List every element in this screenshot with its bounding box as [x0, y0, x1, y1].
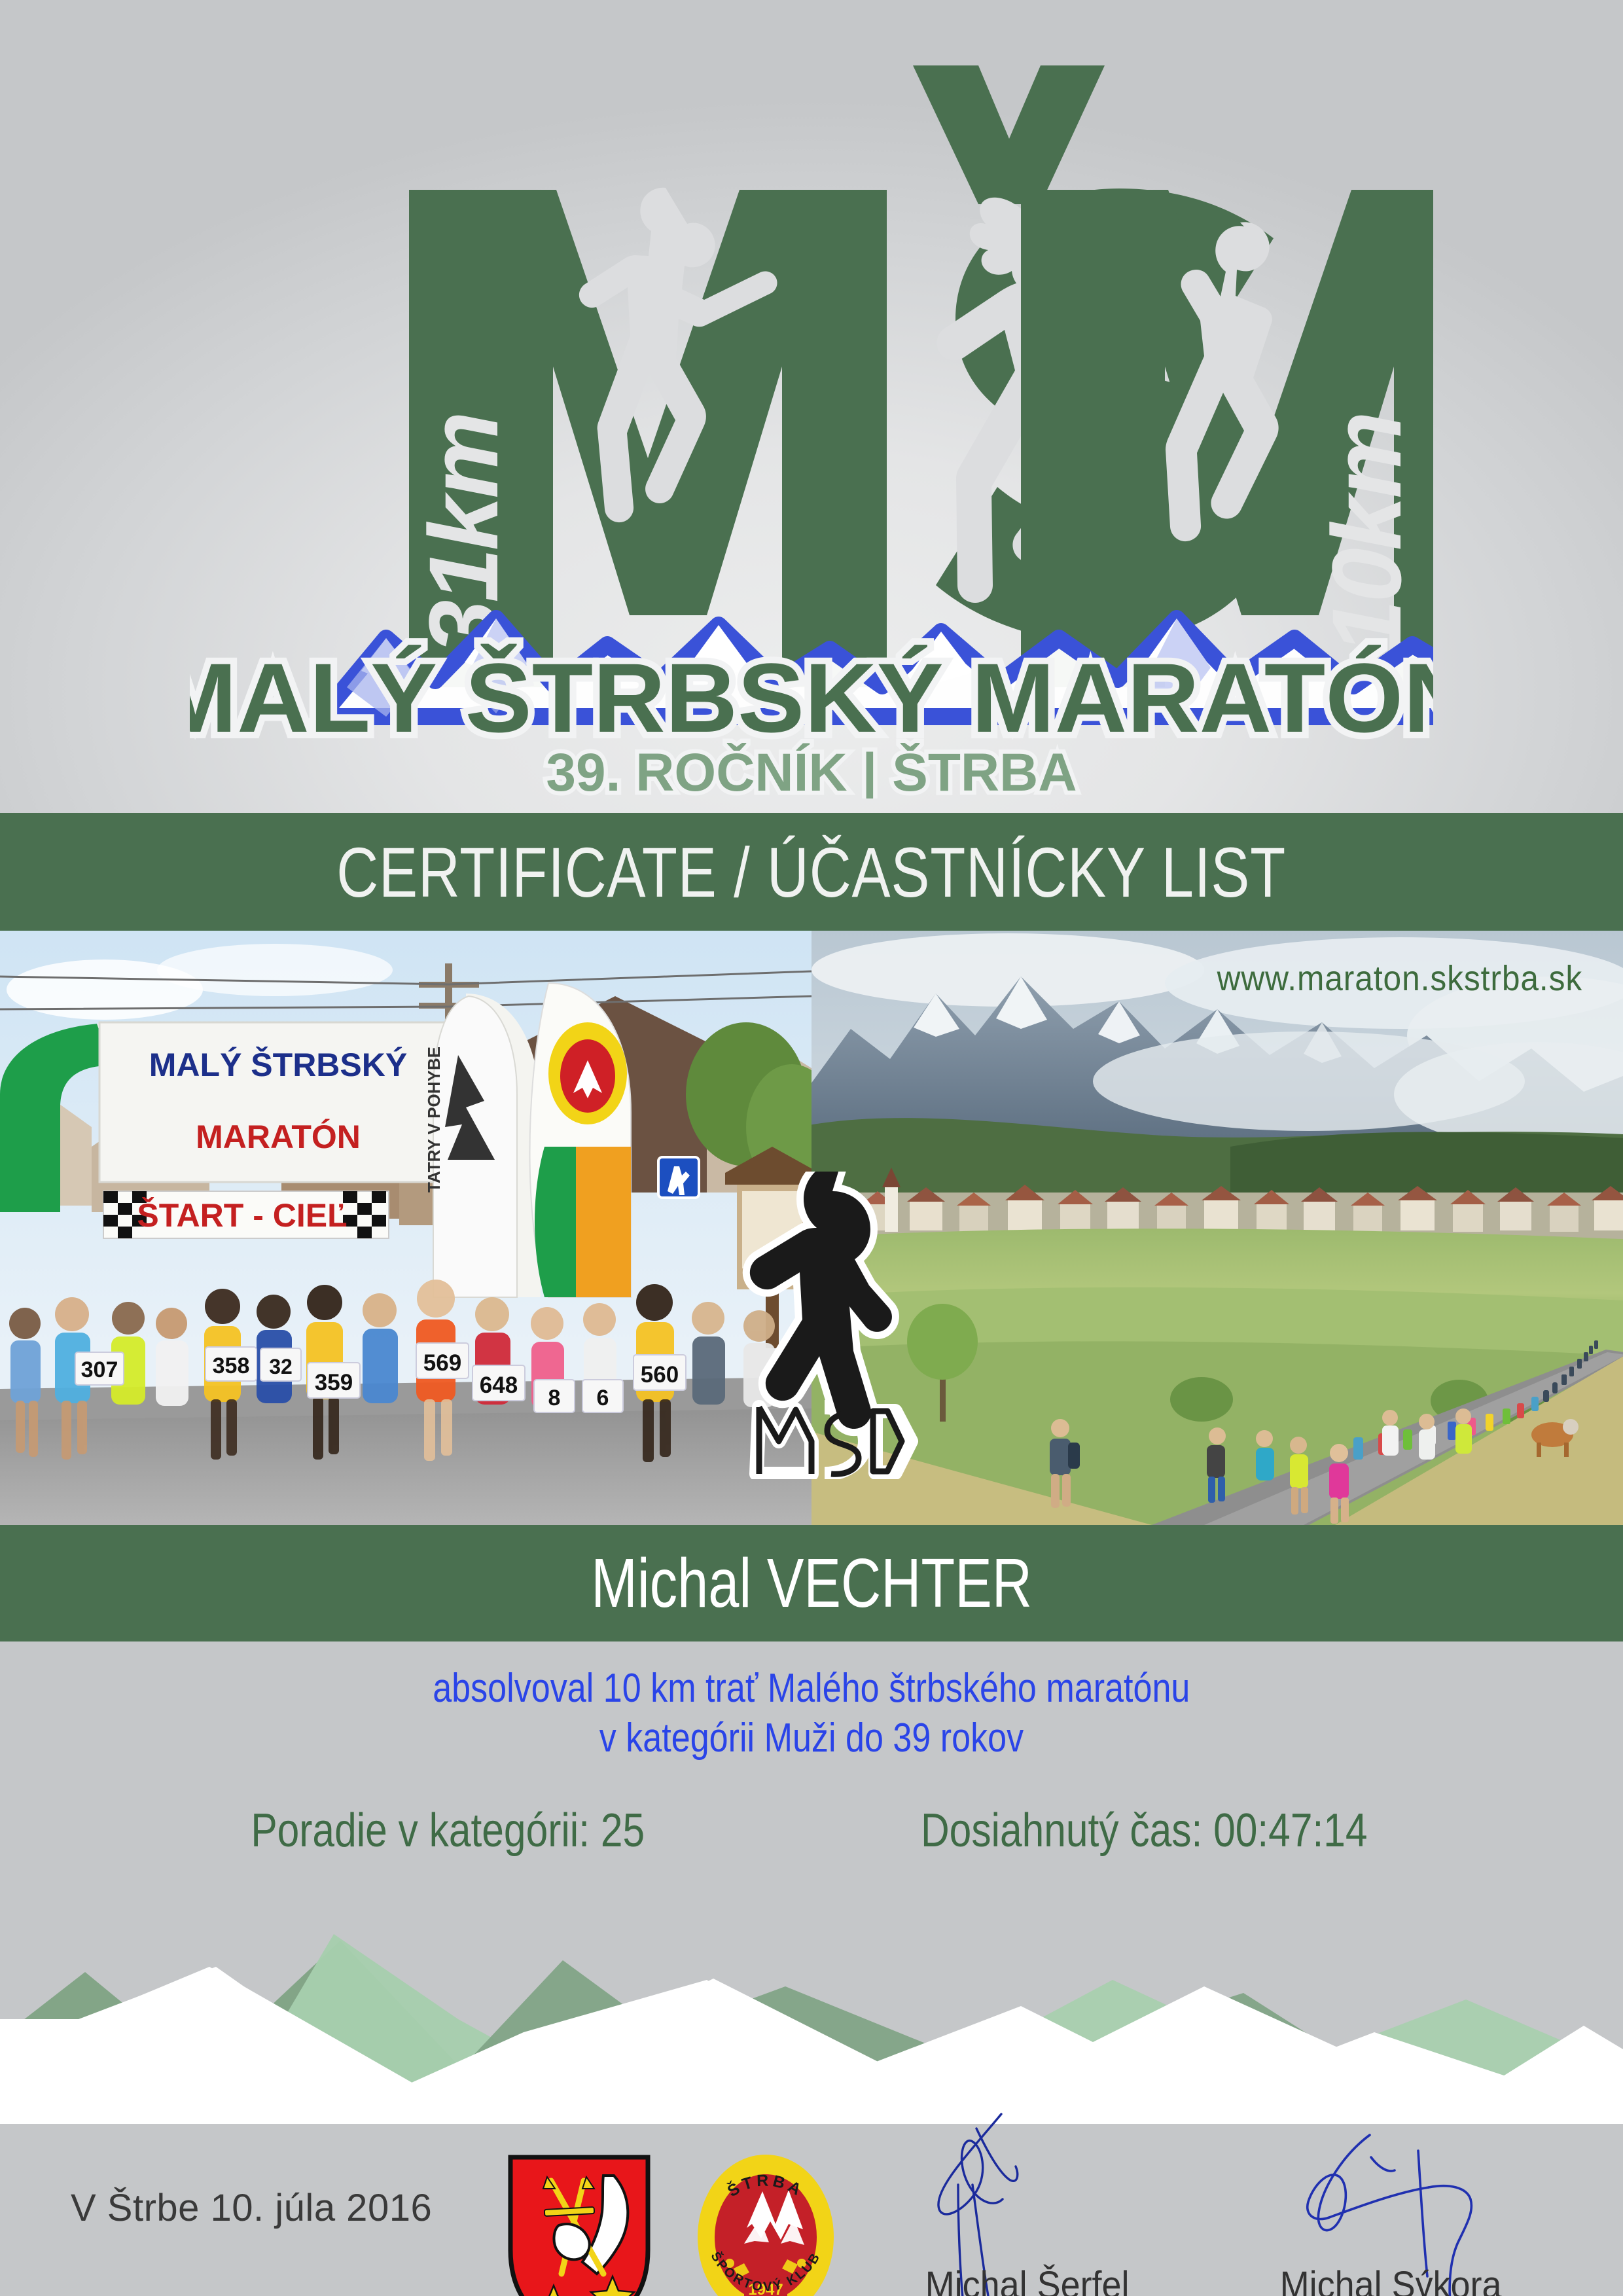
- msm-runner-sticker: [733, 1172, 923, 1479]
- flag-sks: [530, 983, 632, 1297]
- flag-text: TATRY V POHYBE: [424, 1047, 444, 1193]
- description-line-1: absolvoval 10 km trať Malého štrbského m…: [0, 1664, 1623, 1713]
- time-text: Dosiahnutý čas: 00:47:14: [921, 1804, 1368, 1857]
- bib-number: 6: [597, 1386, 609, 1410]
- participant-name-band: Michal VECHTER: [0, 1525, 1623, 1641]
- bib-number: 359: [315, 1370, 353, 1395]
- photo-start-line-art: MALÝ ŠTRBSKÝ MARATÓN ŠTART - CIEĽ: [0, 931, 811, 1525]
- description-line-1-text: absolvoval 10 km trať Malého štrbského m…: [433, 1664, 1190, 1713]
- sks-club-emblem: 1947 ŠTRBA ŠPORTOVÝ KLUB Š K Š: [684, 2145, 847, 2296]
- signature-name-director: Michal Šerfel: [844, 2263, 1211, 2296]
- msm-sticker-art: [733, 1172, 923, 1479]
- time-result: Dosiahnutý čas: 00:47:14: [878, 1804, 1410, 1857]
- bib-number: 569: [423, 1350, 461, 1376]
- bib-number: 32: [269, 1355, 293, 1378]
- issue-date: V Štrbe 10. júla 2016: [71, 2186, 432, 2230]
- arch-line2: MARATÓN: [196, 1119, 361, 1155]
- certificate-page: 31km 10km: [0, 0, 1623, 2296]
- arch-banner-text: ŠTART - CIEĽ: [137, 1196, 347, 1234]
- signature-name-mayor: Michal Sýkora: [1207, 2263, 1574, 2296]
- bib-number: 307: [81, 1357, 118, 1382]
- result-details: absolvoval 10 km trať Malého štrbského m…: [0, 1641, 1623, 1903]
- certificate-footer: V Štrbe 10. júla 2016: [0, 2062, 1623, 2296]
- crest-art: [504, 2152, 654, 2296]
- pedestrian-sign: [658, 1157, 699, 1198]
- flag-tatry: TATRY V POHYBE: [424, 994, 541, 1297]
- distance-10km-label: 10km: [1311, 414, 1421, 655]
- logo-subtitle: 39. ROČNÍK | ŠTRBA: [546, 743, 1077, 798]
- sks-emblem-art: 1947 ŠTRBA ŠPORTOVÝ KLUB Š K Š: [684, 2145, 847, 2296]
- photo-start-line: MALÝ ŠTRBSKÝ MARATÓN ŠTART - CIEĽ: [0, 931, 811, 1525]
- event-url: www.maraton.skstrba.sk: [1217, 958, 1582, 999]
- description-line-2: v kategórii Muži do 39 rokov: [0, 1713, 1623, 1763]
- arch-line1: MALÝ ŠTRBSKÝ: [149, 1046, 407, 1083]
- svg-text:10km: 10km: [1311, 414, 1421, 655]
- bib-number: 8: [548, 1386, 561, 1410]
- event-logo: 31km 10km: [0, 0, 1623, 813]
- bib-number: 560: [641, 1362, 679, 1388]
- results-row: Poradie v kategórii: 25 Dosiahnutý čas: …: [0, 1804, 1623, 1857]
- description-line-2-text: v kategórii Muži do 39 rokov: [599, 1713, 1024, 1763]
- participant-name: Michal VECHTER: [591, 1544, 1032, 1623]
- logo-graphic: 31km 10km: [190, 26, 1433, 798]
- logo-main-title: MALÝ ŠTRBSKÝ MARATÓN: [190, 643, 1433, 753]
- photo-tatras-art: [811, 931, 1623, 1525]
- caron-accent: [913, 65, 1105, 204]
- bib-number: 358: [213, 1354, 250, 1378]
- certificate-title: CERTIFICATE / ÚČASTNÍCKY LIST: [337, 831, 1287, 913]
- certificate-title-band: CERTIFICATE / ÚČASTNÍCKY LIST: [0, 813, 1623, 931]
- rank-text: Poradie v kategórii: 25: [251, 1804, 645, 1857]
- rank-result: Poradie v kategórii: 25: [213, 1804, 682, 1857]
- obec-strba-crest: [504, 2152, 654, 2296]
- bib-number: 648: [480, 1372, 518, 1398]
- photo-tatras-road: www.maraton.skstrba.sk: [811, 931, 1623, 1525]
